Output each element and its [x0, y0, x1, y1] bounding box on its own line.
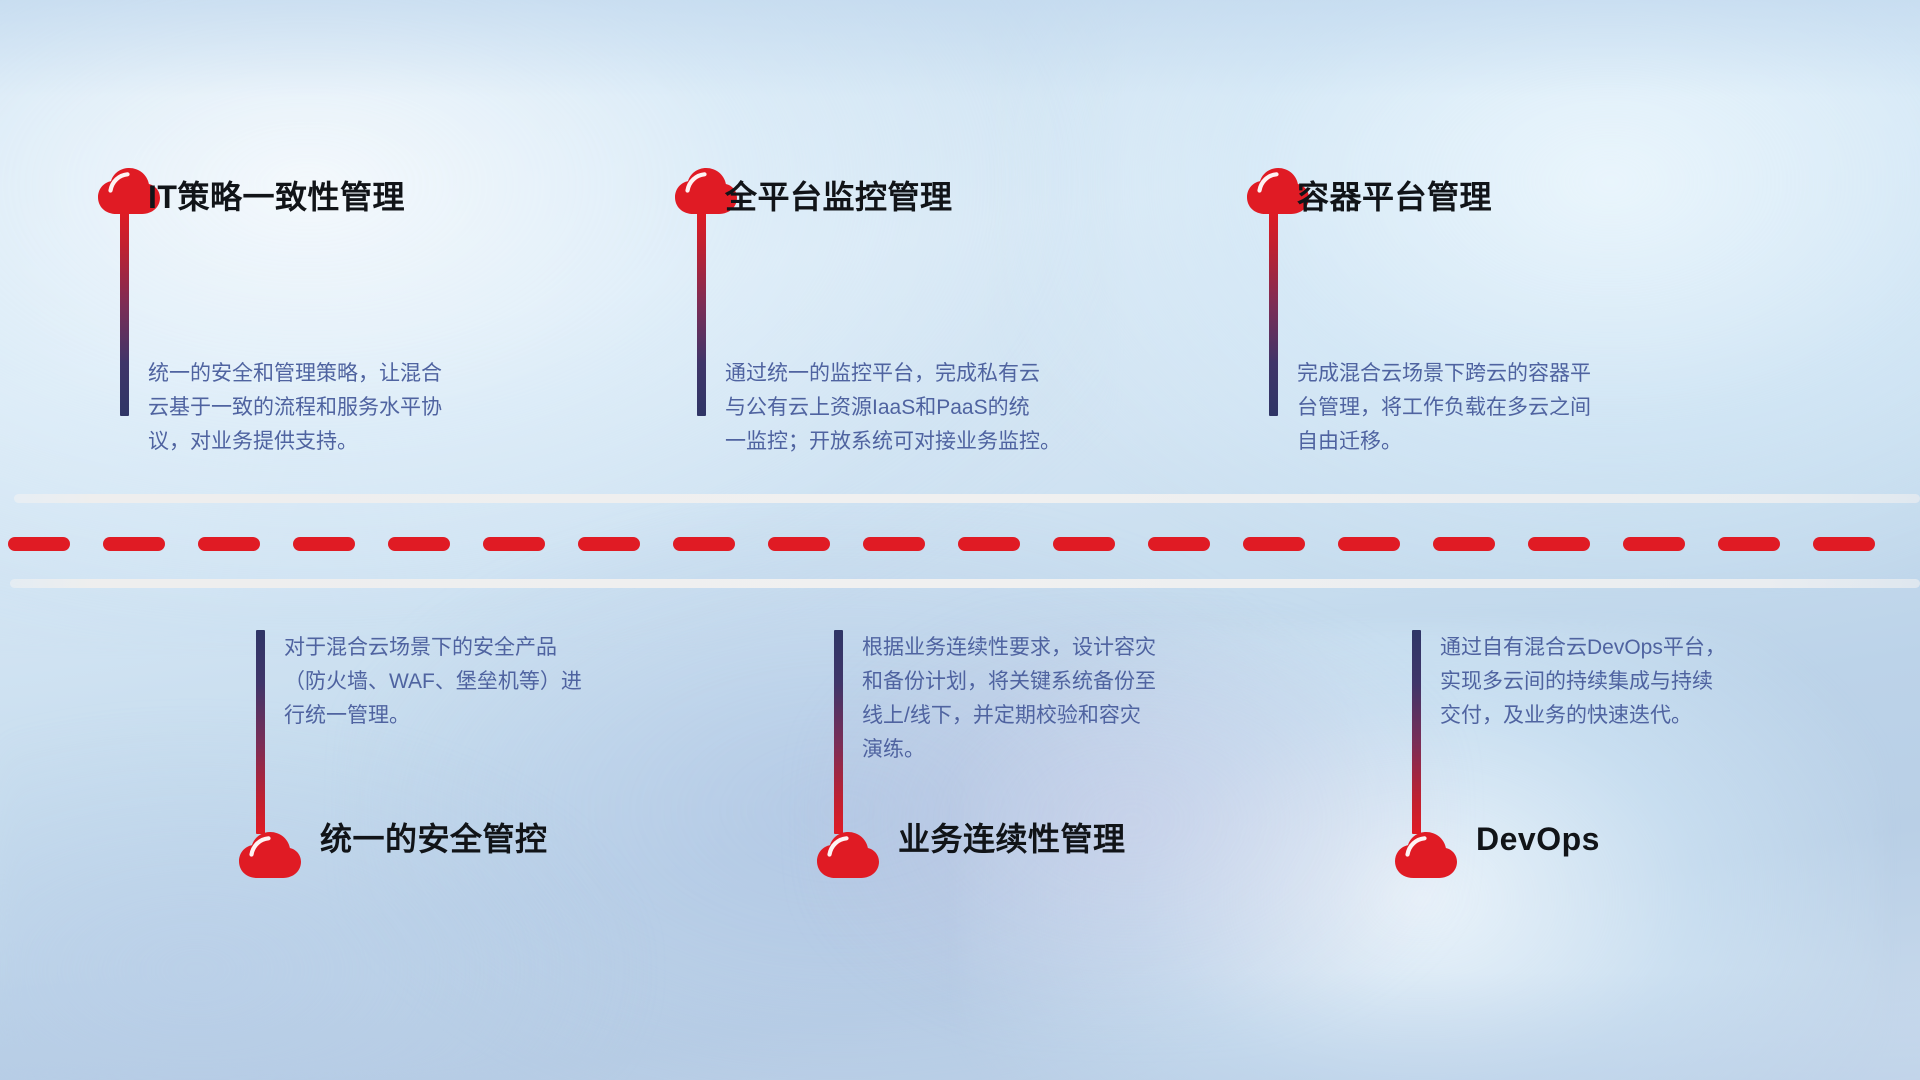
- top-row: IT策略一致性管理 统一的安全和管理策略，让混合 云基于一致的流程和服务水平协 …: [0, 0, 1920, 492]
- road-dash: [1148, 537, 1210, 551]
- cloud-icon: [237, 830, 303, 880]
- body-line: 完成混合云场景下跨云的容器平: [1297, 357, 1717, 391]
- body-line: 一监控；开放系统可对接业务监控。: [725, 425, 1145, 459]
- body-line: 实现多云间的持续集成与持续: [1440, 665, 1860, 699]
- body-line: 台管理，将工作负载在多云之间: [1297, 391, 1717, 425]
- road-dash: [198, 537, 260, 551]
- pin-stem: [834, 630, 843, 834]
- body-line: 通过自有混合云DevOps平台，: [1440, 631, 1860, 665]
- pin-stem: [1412, 630, 1421, 834]
- card-heading: 容器平台管理: [1297, 178, 1492, 216]
- cloud-icon: [1393, 830, 1459, 880]
- card-heading: 统一的安全管控: [320, 820, 548, 858]
- body-line: 交付，及业务的快速迭代。: [1440, 699, 1860, 733]
- body-line: 行统一管理。: [284, 699, 704, 733]
- road-divider: [0, 492, 1920, 588]
- road-dash: [863, 537, 925, 551]
- road-dash: [1338, 537, 1400, 551]
- pin-stem: [256, 630, 265, 834]
- road-dash: [1433, 537, 1495, 551]
- bottom-row: 对于混合云场景下的安全产品 （防火墙、WAF、堡垒机等）进 行统一管理。 统一的…: [0, 588, 1920, 1080]
- body-line: 和备份计划，将关键系统备份至: [862, 665, 1282, 699]
- road-dash: [8, 537, 70, 551]
- body-line: 通过统一的监控平台，完成私有云: [725, 357, 1145, 391]
- body-line: 线上/线下，并定期校验和容灾: [862, 699, 1282, 733]
- road-dash: [293, 537, 355, 551]
- pin-stem: [120, 212, 129, 416]
- body-line: 云基于一致的流程和服务水平协: [148, 391, 548, 425]
- body-line: 根据业务连续性要求，设计容灾: [862, 631, 1282, 665]
- road-edge-top: [14, 494, 1920, 503]
- road-dash: [1053, 537, 1115, 551]
- card-heading: 全平台监控管理: [725, 178, 953, 216]
- card-body: 通过自有混合云DevOps平台， 实现多云间的持续集成与持续 交付，及业务的快速…: [1440, 631, 1860, 733]
- card-heading: IT策略一致性管理: [148, 178, 405, 216]
- cloud-icon: [815, 830, 881, 880]
- pin-stem: [1269, 212, 1278, 416]
- road-edge-bottom: [10, 579, 1920, 588]
- card-heading: DevOps: [1476, 820, 1600, 858]
- body-line: 演练。: [862, 733, 1282, 767]
- road-dash: [1528, 537, 1590, 551]
- card-body: 通过统一的监控平台，完成私有云 与公有云上资源IaaS和PaaS的统 一监控；开…: [725, 357, 1145, 459]
- pin-stem: [697, 212, 706, 416]
- body-line: （防火墙、WAF、堡垒机等）进: [284, 665, 704, 699]
- body-line: 统一的安全和管理策略，让混合: [148, 357, 548, 391]
- card-body: 完成混合云场景下跨云的容器平 台管理，将工作负载在多云之间 自由迁移。: [1297, 357, 1717, 459]
- road-dash: [388, 537, 450, 551]
- road-dash: [578, 537, 640, 551]
- card-heading: 业务连续性管理: [898, 820, 1126, 858]
- road-dash: [1623, 537, 1685, 551]
- infographic-canvas: IT策略一致性管理 统一的安全和管理策略，让混合 云基于一致的流程和服务水平协 …: [0, 0, 1920, 1080]
- road-dash: [483, 537, 545, 551]
- card-body: 统一的安全和管理策略，让混合 云基于一致的流程和服务水平协 议，对业务提供支持。: [148, 357, 548, 459]
- body-line: 与公有云上资源IaaS和PaaS的统: [725, 391, 1145, 425]
- card-body: 根据业务连续性要求，设计容灾 和备份计划，将关键系统备份至 线上/线下，并定期校…: [862, 631, 1282, 767]
- body-line: 自由迁移。: [1297, 425, 1717, 459]
- road-dash: [673, 537, 735, 551]
- body-line: 对于混合云场景下的安全产品: [284, 631, 704, 665]
- road-dash: [1718, 537, 1780, 551]
- body-line: 议，对业务提供支持。: [148, 425, 548, 459]
- road-dash: [1813, 537, 1875, 551]
- road-dash: [103, 537, 165, 551]
- road-dash: [958, 537, 1020, 551]
- road-dash: [1243, 537, 1305, 551]
- road-dash: [768, 537, 830, 551]
- card-body: 对于混合云场景下的安全产品 （防火墙、WAF、堡垒机等）进 行统一管理。: [284, 631, 704, 733]
- road-dash-track: [0, 537, 1920, 551]
